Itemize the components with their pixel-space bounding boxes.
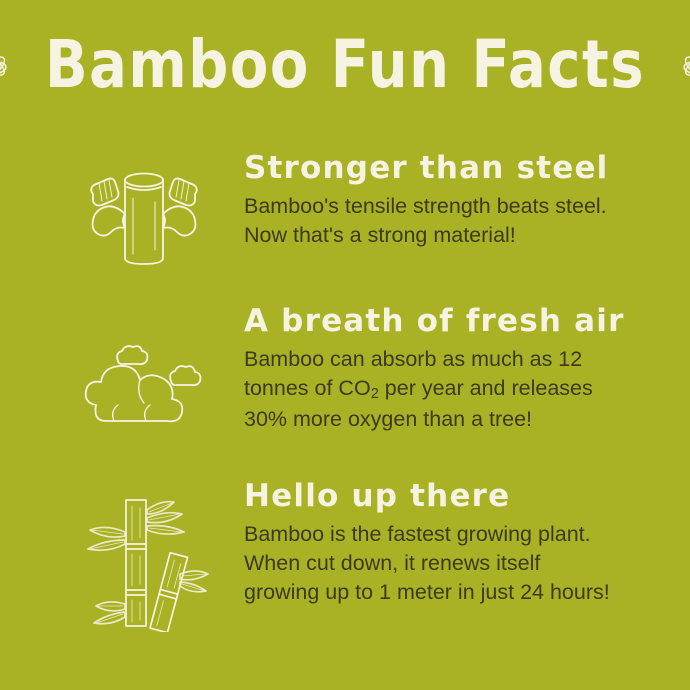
- fact-body: A breath of fresh air Bamboo can absorb …: [228, 305, 660, 433]
- fact-text: Bamboo is the fastest growing plant. Whe…: [244, 520, 614, 606]
- leaf-sprig-left-icon: [0, 27, 35, 105]
- bamboo-stalks-icon: [60, 480, 228, 632]
- fact-body: Stronger than steel Bamboo's tensile str…: [228, 152, 660, 250]
- bamboo-fun-facts-poster: Bamboo Fun Facts: [0, 0, 690, 690]
- fact-body: Hello up there Bamboo is the fastest gro…: [228, 480, 660, 606]
- leaf-sprig-right-icon: [655, 27, 690, 105]
- poster-header: Bamboo Fun Facts: [0, 20, 690, 112]
- fact-heading: Stronger than steel: [244, 152, 660, 185]
- fact-text: Bamboo can absorb as much as 12 tonnes o…: [244, 345, 614, 433]
- fact-heading: Hello up there: [244, 480, 660, 513]
- fact-heading: A breath of fresh air: [244, 305, 660, 338]
- flexing-bamboo-muscles-icon: [60, 152, 228, 270]
- clouds-icon: [60, 305, 228, 441]
- fact-item: A breath of fresh air Bamboo can absorb …: [60, 305, 660, 441]
- page-title: Bamboo Fun Facts: [35, 33, 655, 99]
- fact-item: Stronger than steel Bamboo's tensile str…: [60, 152, 660, 270]
- fact-item: Hello up there Bamboo is the fastest gro…: [60, 480, 660, 632]
- fact-text: Bamboo's tensile strength beats steel. N…: [244, 192, 614, 249]
